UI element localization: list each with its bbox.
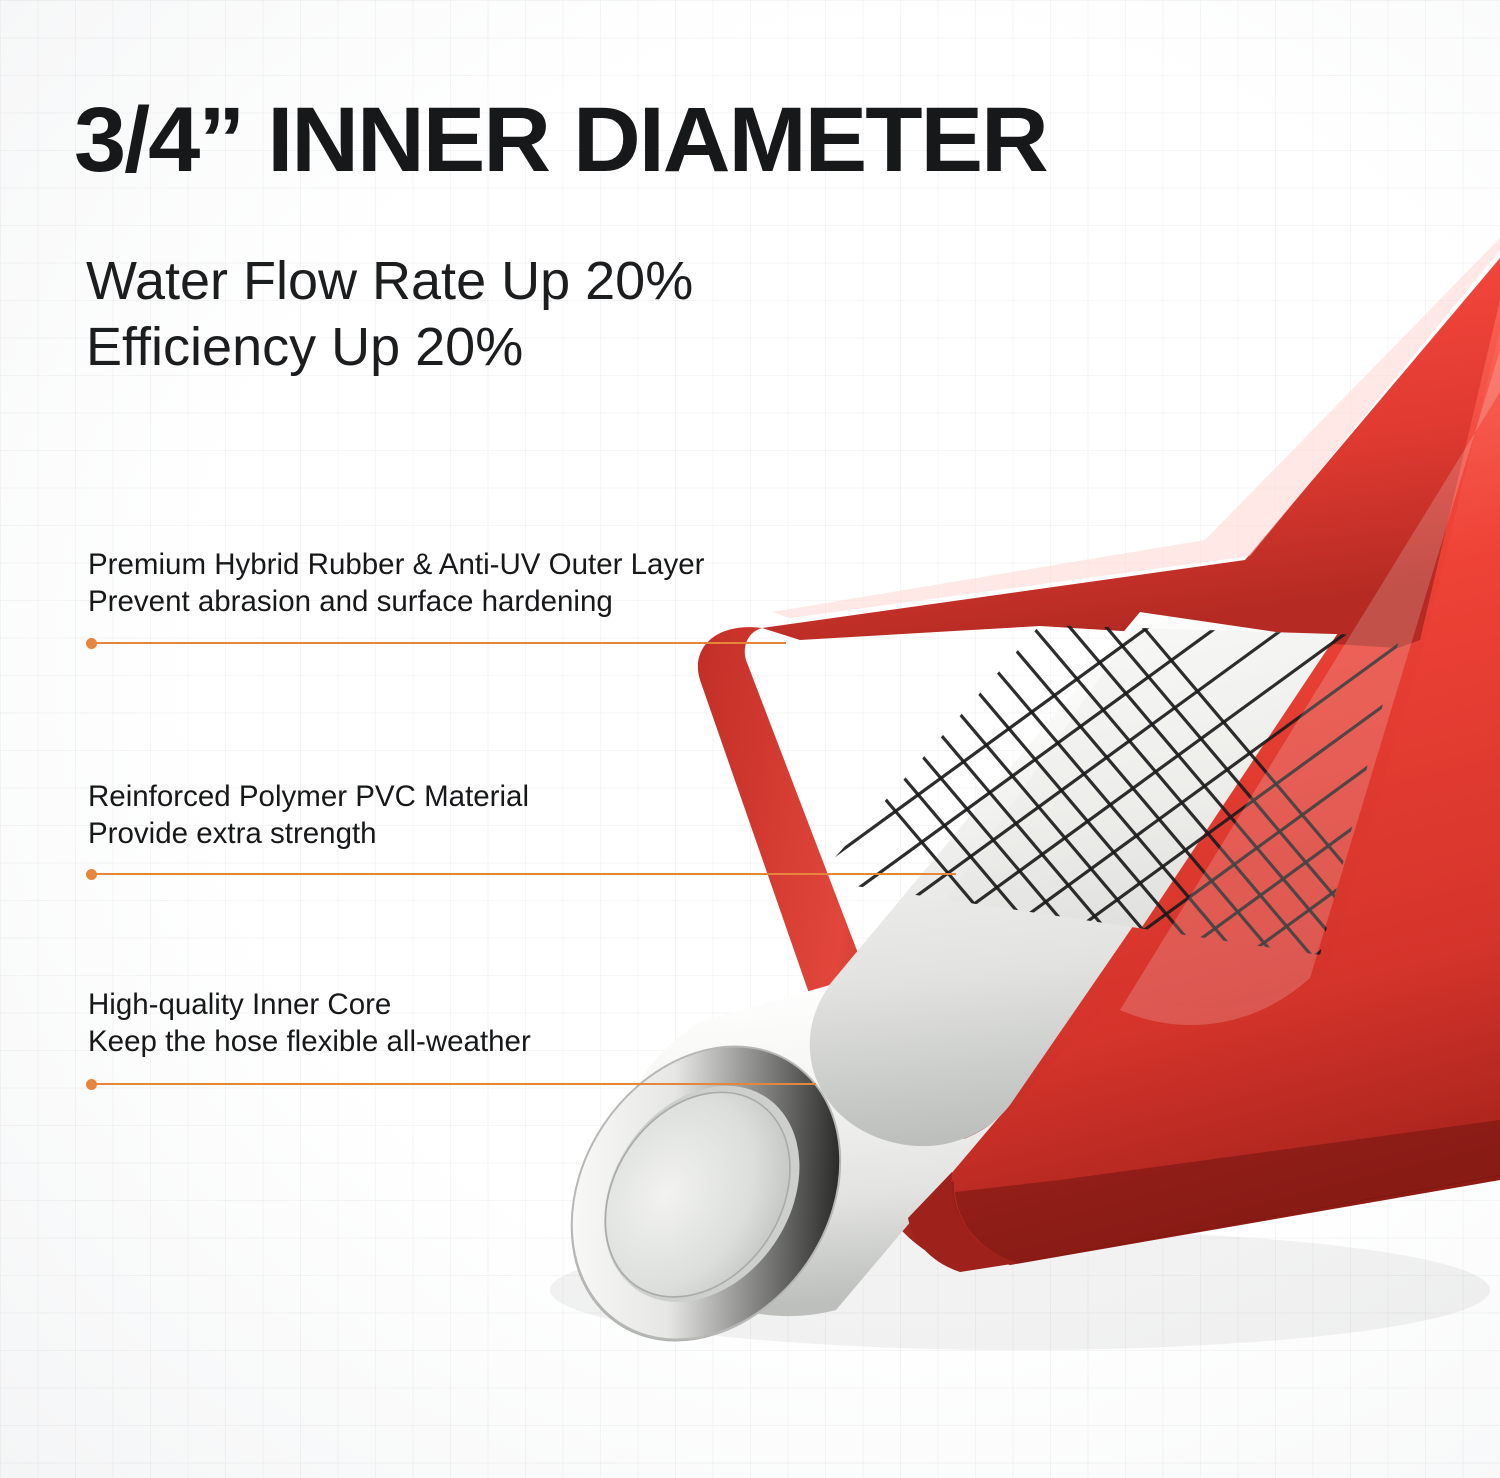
subheadline: Water Flow Rate Up 20% Efficiency Up 20% [86,248,693,380]
infographic-canvas: 3/4” INNER DIAMETER Water Flow Rate Up 2… [0,0,1500,1478]
leader-line-pvc-material [86,868,956,880]
callout-outer-layer-title: Premium Hybrid Rubber & Anti-UV Outer La… [88,546,704,583]
hose-cutaway-illustration [0,0,1500,1478]
leader-line-inner-core [86,1078,816,1090]
callout-outer-layer: Premium Hybrid Rubber & Anti-UV Outer La… [88,546,704,620]
callout-outer-layer-subtitle: Prevent abrasion and surface hardening [88,583,704,620]
callout-pvc-material-title: Reinforced Polymer PVC Material [88,778,529,815]
callout-pvc-material-subtitle: Provide extra strength [88,815,529,852]
leader-line-stroke [86,873,956,875]
leader-line-stroke [86,642,786,644]
leader-line-dot [86,869,97,880]
callout-inner-core: High-quality Inner Core Keep the hose fl… [88,986,531,1060]
subheadline-line-1: Water Flow Rate Up 20% [86,248,693,314]
leader-line-outer-layer [86,637,786,649]
callout-inner-core-title: High-quality Inner Core [88,986,531,1023]
callout-inner-core-subtitle: Keep the hose flexible all-weather [88,1023,531,1060]
leader-line-dot [86,1079,97,1090]
subheadline-line-2: Efficiency Up 20% [86,314,693,380]
leader-line-dot [86,638,97,649]
page-title: 3/4” INNER DIAMETER [74,88,1047,193]
leader-line-stroke [86,1083,816,1085]
callout-pvc-material: Reinforced Polymer PVC Material Provide … [88,778,529,852]
